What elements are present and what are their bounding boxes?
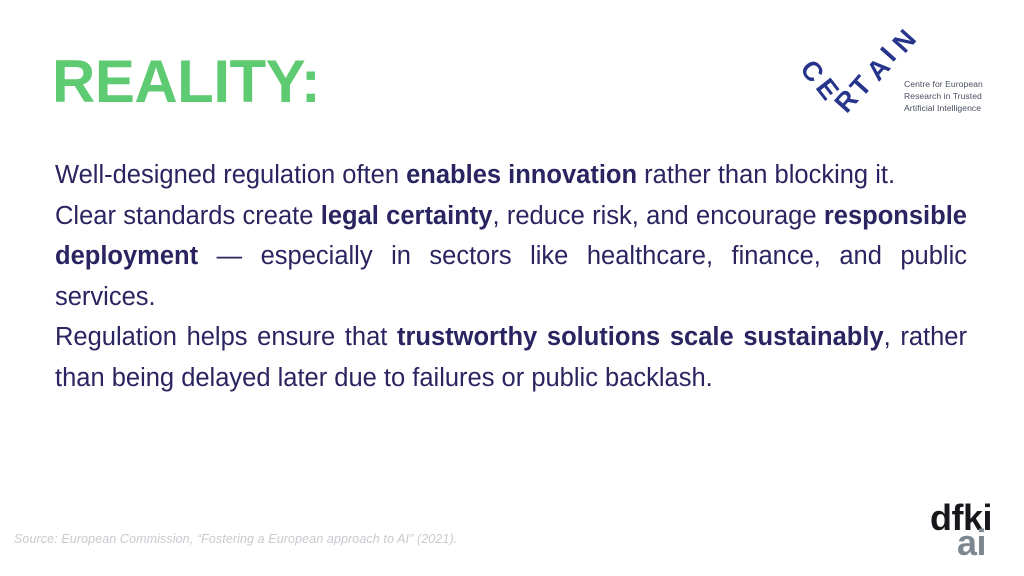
dfki-ai-wordmark: ai bbox=[957, 525, 986, 561]
body-paragraph: Regulation helps ensure that trustworthy… bbox=[55, 317, 967, 398]
body-text: rather than blocking it. bbox=[637, 161, 895, 189]
presentation-slide: REALITY: CERTAIN Centre for EuropeanRese… bbox=[0, 0, 1024, 576]
certain-logo-subtitle-line: Research in Trusted bbox=[904, 90, 1016, 102]
certain-wordmark: CERTAIN bbox=[800, 18, 930, 133]
certain-logo-subtitle: Centre for EuropeanResearch in TrustedAr… bbox=[904, 78, 1016, 115]
dfki-logo: dfki ai bbox=[930, 500, 1014, 566]
emphasis-text: trustworthy solutions scale sustainably bbox=[397, 323, 884, 351]
body-paragraph: Clear standards create legal certainty, … bbox=[55, 196, 967, 318]
certain-logo-subtitle-line: Artificial Intelligence bbox=[904, 102, 1016, 114]
body-paragraph: Well-designed regulation often enables i… bbox=[55, 155, 967, 196]
certain-logo: CERTAIN Centre for EuropeanResearch in T… bbox=[800, 18, 1012, 136]
body-text: Clear standards create bbox=[55, 202, 321, 230]
emphasis-text: enables innovation bbox=[406, 161, 637, 189]
body-text: Well-designed regulation often bbox=[55, 161, 406, 189]
source-citation: Source: European Commission, “Fostering … bbox=[14, 532, 457, 546]
page-title: REALITY: bbox=[52, 52, 320, 112]
body-text: , reduce risk, and encourage bbox=[492, 202, 823, 230]
body-copy: Well-designed regulation often enables i… bbox=[55, 155, 967, 398]
emphasis-text: legal certainty bbox=[321, 202, 493, 230]
certain-logo-subtitle-line: Centre for European bbox=[904, 78, 1016, 90]
body-text: Regulation helps ensure that bbox=[55, 323, 397, 351]
